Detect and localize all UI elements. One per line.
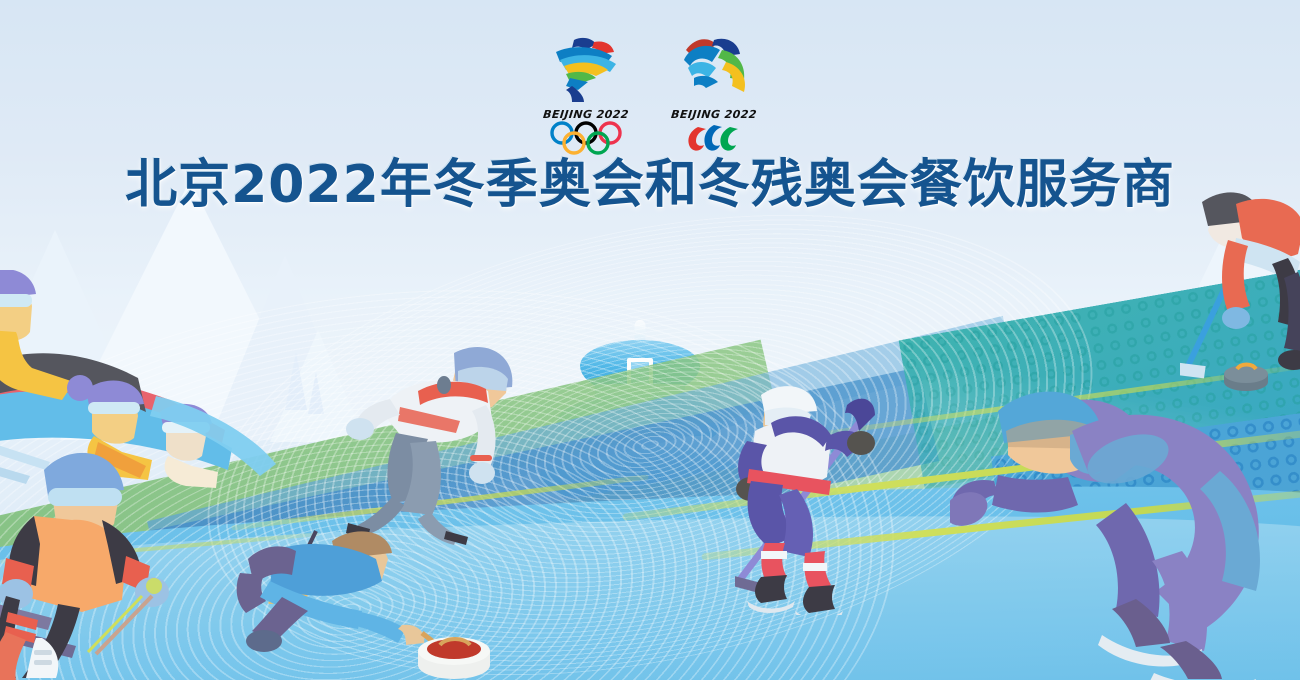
shoe: [1278, 350, 1300, 370]
athlete-speed-skater-mid: [340, 345, 530, 545]
athlete-curler-delivering: [230, 525, 500, 680]
glove: [469, 462, 495, 484]
olympic-wordmark: BEIJING 2022: [531, 108, 640, 121]
paralympic-ribbon-icon: [664, 34, 764, 102]
curling-stone-red: [418, 637, 490, 679]
front-leg: [1096, 503, 1160, 617]
glove: [1222, 307, 1250, 329]
goggles: [48, 488, 122, 506]
arm: [352, 611, 406, 643]
curling-shoe: [246, 630, 282, 652]
skate-blade: [795, 611, 843, 615]
paralympic-wordmark: BEIJING 2022: [660, 108, 769, 121]
skate-boot: [755, 575, 787, 603]
broom-head: [1180, 358, 1207, 382]
athlete-speed-skater-large: [950, 385, 1290, 680]
beijing-2022-catering-banner: BEIJING 2022 B: [0, 0, 1300, 680]
glove: [346, 418, 374, 440]
page-title: 北京2022年冬季奥会和冬残奥会餐饮服务商: [0, 142, 1300, 217]
olympic-ribbon-icon: [536, 34, 636, 102]
bobsleigh-athlete-front: [0, 270, 93, 401]
skate-boot: [1112, 599, 1170, 647]
trailing-arm: [992, 475, 1078, 513]
glove: [847, 431, 875, 455]
skate-boot: [803, 585, 835, 613]
athlete-ice-hockey-player: [735, 385, 915, 615]
arm: [1222, 240, 1250, 312]
skate-blade: [747, 601, 795, 613]
athlete-alpine-skier: [0, 440, 220, 680]
